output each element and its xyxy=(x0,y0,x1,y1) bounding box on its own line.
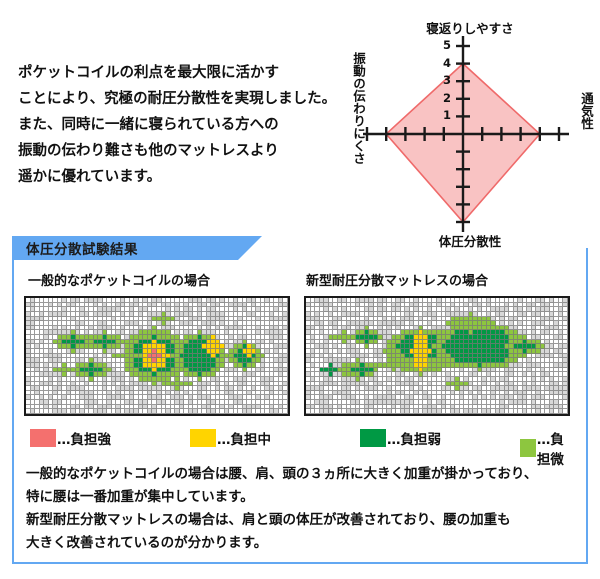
radar-chart: 寝返りしやすさ 体圧分散性 振動の伝わりにくさ 通気性 12345 xyxy=(345,18,595,250)
intro-line: 遥かに優れています。 xyxy=(18,164,328,190)
intro-line: ポケットコイルの利点を最大限に活かす xyxy=(18,60,328,86)
conclusion-line: 大きく改善されているのが分かります。 xyxy=(26,532,578,555)
intro-line: 振動の伝わり難さも他のマットレスより xyxy=(18,138,328,164)
pressure-map-new xyxy=(304,296,570,416)
map-title-new: 新型耐圧分散マットレスの場合 xyxy=(306,270,488,289)
legend-swatch xyxy=(520,439,536,457)
intro-line: また、同時に一緒に寝られている方への xyxy=(18,112,328,138)
radar-tick-label: 5 xyxy=(439,38,451,52)
intro-line: ことにより、究極の耐圧分散性を実現しました。 xyxy=(18,86,328,112)
intro-paragraph: ポケットコイルの利点を最大限に活かす ことにより、究極の耐圧分散性を実現しました… xyxy=(18,60,328,190)
pressure-cell xyxy=(563,409,568,414)
legend-swatch xyxy=(30,429,56,447)
legend-swatch xyxy=(360,429,386,447)
radar-tick-label: 1 xyxy=(439,108,451,122)
section-title: 体圧分散試験結果 xyxy=(26,238,138,258)
radar-tick-label: 2 xyxy=(439,91,451,105)
radar-plot-area: 12345 xyxy=(363,34,577,234)
legend-label: …負担中 xyxy=(217,428,271,448)
legend-item: …負担強 xyxy=(30,428,111,448)
conclusion-line: 一般的なポケットコイルの場合は腰、肩、頭の３ヵ所に大きく加重が掛かっており、 xyxy=(26,463,578,486)
legend-item: …負担中 xyxy=(190,428,271,448)
conclusion-line: 新型耐圧分散マットレスの場合は、肩と頭の体圧が改善されており、腰の加重も xyxy=(26,509,578,532)
conclusion-line: 特に腰は一番加重が集中しています。 xyxy=(26,486,578,509)
legend-swatch xyxy=(190,429,216,447)
section-banner-corner xyxy=(238,236,262,260)
pressure-legend: …負担強…負担中…負担弱…負担微 xyxy=(30,428,570,450)
legend-label: …負担微 xyxy=(537,428,570,468)
pressure-map-conventional xyxy=(24,296,290,416)
legend-item: …負担弱 xyxy=(360,428,441,448)
pressure-cell xyxy=(283,409,288,414)
radar-axis-label-right: 通気性 xyxy=(577,92,594,130)
radar-svg xyxy=(363,34,577,234)
legend-label: …負担強 xyxy=(57,428,111,448)
conclusion-paragraph: 一般的なポケットコイルの場合は腰、肩、頭の３ヵ所に大きく加重が掛かっており、 特… xyxy=(26,463,578,555)
legend-item: …負担微 xyxy=(520,428,570,468)
legend-label: …負担弱 xyxy=(387,428,441,448)
radar-tick-label: 4 xyxy=(439,56,451,70)
map-title-conventional: 一般的なポケットコイルの場合 xyxy=(28,270,210,289)
radar-tick-label: 3 xyxy=(439,73,451,87)
